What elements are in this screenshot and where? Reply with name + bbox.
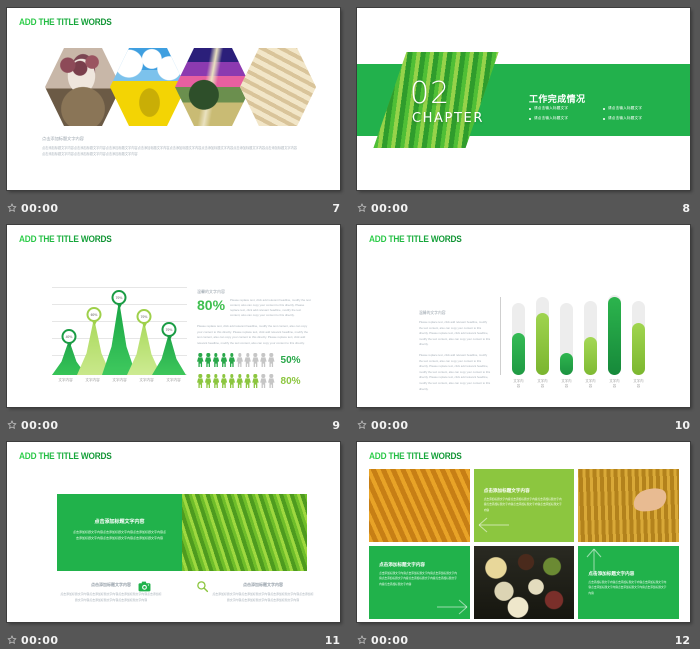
pictogram-row-2[interactable]: 80% [197,374,312,388]
green-wheat-field-photo[interactable] [182,494,307,571]
person-icon [236,353,243,367]
bullet-label: 请点击输入标题文字 [608,106,642,111]
info-column-2: 点击添加标题文字内容 点击添加标题文字内容点击添加标题文字内容点击添加标题文字内… [197,582,317,604]
slide-cell-8[interactable]: 02 CHAPTER 工作完成情况 请点击输入标题文字 请点击输入标题文字 请点… [350,0,700,217]
person-icon [229,353,236,367]
list-item: 请点击输入标题文字 [529,116,595,121]
category-label: 文字内容 [536,378,549,388]
presentation-star-icon [7,420,17,430]
person-icon [221,353,228,367]
side-body-2: Please replace text, click add relevant … [197,324,312,346]
rapeseed-field-sky-photo[interactable] [110,48,186,126]
person-icon [236,374,243,388]
caption-body: 点击添加标题文字内容点击添加标题文字内容点击添加标题文字内容点击添加标题文字内容… [42,145,297,157]
bullet-label: 请点击输入标题文字 [534,106,568,111]
wheat-grains-closeup-photo[interactable] [240,48,316,126]
slide-11[interactable]: ADD THE TITLE WORDS 点击添加标题文字内容 点击添加标题文字内… [7,442,340,622]
list-item: 请点击输入标题文字 [603,116,669,121]
pin-value: 40% [66,335,73,339]
category-label: 文字内容 [632,378,645,388]
tube-bar-chart [512,295,652,375]
bar-1[interactable] [512,295,525,375]
info-column-1: 点击添加标题文字内容 点击添加标题文字内容点击添加标题文字内容点击添加标题文字内… [59,582,179,604]
presentation-star-icon [357,635,367,645]
timer-label: 00:00 [21,202,59,215]
slide-8[interactable]: 02 CHAPTER 工作完成情况 请点击输入标题文字 请点击输入标题文字 请点… [357,8,690,190]
bar-3[interactable] [560,295,573,375]
slide-7[interactable]: ADD THE TITLE WORDS 点击添加标题文字内容 点击添加标题文字内… [7,8,340,190]
bullet-label: 请点击输入标题文字 [608,116,642,121]
page-number: 7 [332,202,340,215]
timer-label: 00:00 [371,634,409,647]
person-icon [268,353,275,367]
slide-cell-7[interactable]: ADD THE TITLE WORDS 点击添加标题文字内容 点击添加标题文字内… [0,0,350,217]
column-body: 点击添加标题文字内容点击添加标题文字内容点击添加标题文字内容点击添加标题文字内容… [59,592,163,604]
category-label: 文字内容 [560,378,573,388]
bar-5[interactable] [608,295,621,375]
slide-footer-7: 00:00 7 [0,199,350,217]
grid-text-cell-1[interactable]: 点击添加标题文字内容 点击添加标题文字内容点击添加标题文字内容点击添加标题文字内… [474,469,575,542]
cell-heading: 点击添加标题文字内容 [484,488,563,494]
chapter-bullet-list: 请点击输入标题文字 请点击输入标题文字 请点击输入标题文字 请点击输入标题文字 [529,106,669,121]
bar-4[interactable] [584,295,597,375]
highlight-value: 80% [197,298,225,312]
pin-value: 70% [141,315,148,319]
page-number: 9 [332,419,340,432]
person-icon [197,353,204,367]
timer-label: 00:00 [371,202,409,215]
data-pin-3[interactable]: 70% [112,290,127,309]
slide-cell-10[interactable]: ADD THE TITLE WORDS 温馨的文字内容 Please repla… [350,217,700,434]
bullet-dot-icon [529,118,531,120]
page-title: ADD THE TITLE WORDS [19,234,112,244]
category-label: 文字内容 [133,378,160,383]
chapter-number: 02 [410,76,450,111]
panel-body: 点击添加标题文字内容点击添加标题文字内容点击添加标题文字内容点击添加标题文字内容… [73,529,166,541]
pin-value: 70% [116,296,123,300]
hand-touching-wheat-photo[interactable] [578,469,679,542]
presentation-star-icon [7,203,17,213]
cell-body: 点击添加标题文字内容点击添加标题文字内容点击添加标题文字内容点击添加标题文字内容… [588,580,667,596]
photo-text-grid: 点击添加标题文字内容 点击添加标题文字内容点击添加标题文字内容点击添加标题文字内… [369,469,679,619]
slide-footer-9: 00:00 9 [0,416,350,434]
person-icon [260,374,267,388]
bar-2[interactable] [536,295,549,375]
pictogram-value: 80% [281,376,301,387]
green-text-panel: 点击添加标题文字内容 点击添加标题文字内容点击添加标题文字内容点击添加标题文字内… [57,494,182,571]
timer-label: 00:00 [21,419,59,432]
side-text-block: 温馨的文字内容 80% Please replace text, click a… [197,289,312,388]
page-number: 10 [675,419,690,432]
person-icon [221,374,228,388]
side-body-1: Please replace text, click add relevant … [230,298,312,318]
list-item: 请点击输入标题文字 [529,106,595,111]
chart-axis-line [500,297,501,375]
side-heading: 温馨的文字内容 [419,311,491,316]
category-label: 文字内容 [52,378,79,383]
page-title: ADD THE TITLE WORDS [369,451,462,461]
category-label: 文字内容 [160,378,187,383]
page-title: ADD THE TITLE WORDS [369,234,462,244]
pictogram-row-1[interactable]: 50% [197,353,312,367]
slide-12[interactable]: ADD THE TITLE WORDS 点击添加标题文字内容 点击添加标题文字内… [357,442,690,622]
timer-label: 00:00 [371,419,409,432]
cell-heading: 点击添加标题文字内容 [379,562,458,568]
chart-category-labels: 文字内容 文字内容 文字内容 文字内容 文字内容 文字内容 [512,378,652,388]
chart-category-labels: 文字内容 文字内容 文字内容 文字内容 文字内容 [52,378,187,383]
slide-footer-12: 00:00 12 [350,631,700,649]
category-label: 文字内容 [106,378,133,383]
list-item: 请点击输入标题文字 [603,106,669,111]
person-icon [213,353,220,367]
timer-label: 00:00 [21,634,59,647]
data-pin-1[interactable]: 40% [62,329,77,348]
camera-icon[interactable] [138,580,151,593]
bullet-dot-icon [603,118,605,120]
category-label: 文字内容 [584,378,597,388]
side-body-1: Please replace text, click add relevant … [419,320,491,348]
cell-body: 点击添加标题文字内容点击添加标题文字内容点击添加标题文字内容点击添加标题文字内容… [484,497,563,513]
arrow-up-icon [584,546,604,576]
data-pin-4[interactable]: 70% [137,309,152,328]
arrow-left-icon [476,516,510,534]
category-label: 文字内容 [608,378,621,388]
presentation-star-icon [357,203,367,213]
column-body: 点击添加标题文字内容点击添加标题文字内容点击添加标题文字内容点击添加标题文字内容… [211,592,315,604]
slide-9[interactable]: ADD THE TITLE WORDS 40% 60% 70% 70% 70% … [7,225,340,407]
arrow-right-icon [436,597,470,617]
pictogram-icons [197,374,275,388]
caption-heading: 点击添加标题文字内容 [42,136,297,142]
pictogram-value: 50% [281,355,301,366]
bar-6[interactable] [632,295,645,375]
presentation-star-icon [357,420,367,430]
slide-thumbnail-grid: ADD THE TITLE WORDS 点击添加标题文字内容 点击添加标题文字内… [0,0,700,649]
page-title: ADD THE TITLE WORDS [19,451,112,461]
slide-cell-11[interactable]: ADD THE TITLE WORDS 点击添加标题文字内容 点击添加标题文字内… [0,434,350,649]
category-label: 文字内容 [512,378,525,388]
data-pin-2[interactable]: 60% [87,307,102,326]
person-icon [205,374,212,388]
chapter-heading: 工作完成情况 [529,92,585,105]
grid-text-cell-3[interactable]: 点击添加标题文字内容 点击添加标题文字内容点击添加标题文字内容点击添加标题文字内… [578,546,679,619]
slide-footer-10: 00:00 10 [350,416,700,434]
person-icon [252,374,259,388]
bullet-dot-icon [603,108,605,110]
page-number: 11 [325,634,340,647]
wheat-ears-photo[interactable] [369,469,470,542]
grain-bowls-photo[interactable] [474,546,575,619]
presentation-star-icon [7,635,17,645]
person-icon [268,374,275,388]
panel-heading: 点击添加标题文字内容 [73,518,166,525]
slide-10[interactable]: ADD THE TITLE WORDS 温馨的文字内容 Please repla… [357,225,690,407]
bullet-dot-icon [529,108,531,110]
bowl-of-red-beans-photo[interactable] [45,48,121,126]
slide-cell-9[interactable]: ADD THE TITLE WORDS 40% 60% 70% 70% 70% … [0,217,350,434]
cell-body: 点击添加标题文字内容点击添加标题文字内容点击添加标题文字内容点击添加标题文字内容… [379,571,458,587]
chapter-word: CHAPTER [412,111,484,126]
page-number: 8 [682,202,690,215]
person-icon [197,374,204,388]
peak-area-chart: 40% 60% 70% 70% 70% [52,287,187,375]
column-heading: 点击添加标题文字内容 [211,582,315,588]
page-number: 12 [675,634,690,647]
search-icon[interactable] [196,580,209,593]
person-icon [229,374,236,388]
person-icon [213,374,220,388]
pictogram-icons [197,353,275,367]
person-icon [205,353,212,367]
person-icon [244,353,251,367]
slide-footer-8: 00:00 8 [350,199,700,217]
slide-footer-11: 00:00 11 [0,631,350,649]
bullet-label: 请点击输入标题文字 [534,116,568,121]
pin-value: 70% [166,328,173,332]
grid-text-cell-2[interactable]: 点击添加标题文字内容 点击添加标题文字内容点击添加标题文字内容点击添加标题文字内… [369,546,470,619]
side-text-block: 温馨的文字内容 Please replace text, click add r… [419,311,491,392]
side-body-2: Please replace text, click add relevant … [419,353,491,392]
side-heading: 温馨的文字内容 [197,289,312,295]
person-icon [260,353,267,367]
pin-value: 60% [91,313,98,317]
person-icon [244,374,251,388]
category-label: 文字内容 [79,378,106,383]
data-pin-5[interactable]: 70% [162,322,177,341]
page-title: ADD THE TITLE WORDS [19,17,112,27]
person-icon [252,353,259,367]
caption-block: 点击添加标题文字内容 点击添加标题文字内容点击添加标题文字内容点击添加标题文字内… [42,136,297,157]
purple-sunset-landscape-photo[interactable] [175,48,251,126]
hexagon-gallery [45,48,315,126]
slide-cell-12[interactable]: ADD THE TITLE WORDS 点击添加标题文字内容 点击添加标题文字内… [350,434,700,649]
